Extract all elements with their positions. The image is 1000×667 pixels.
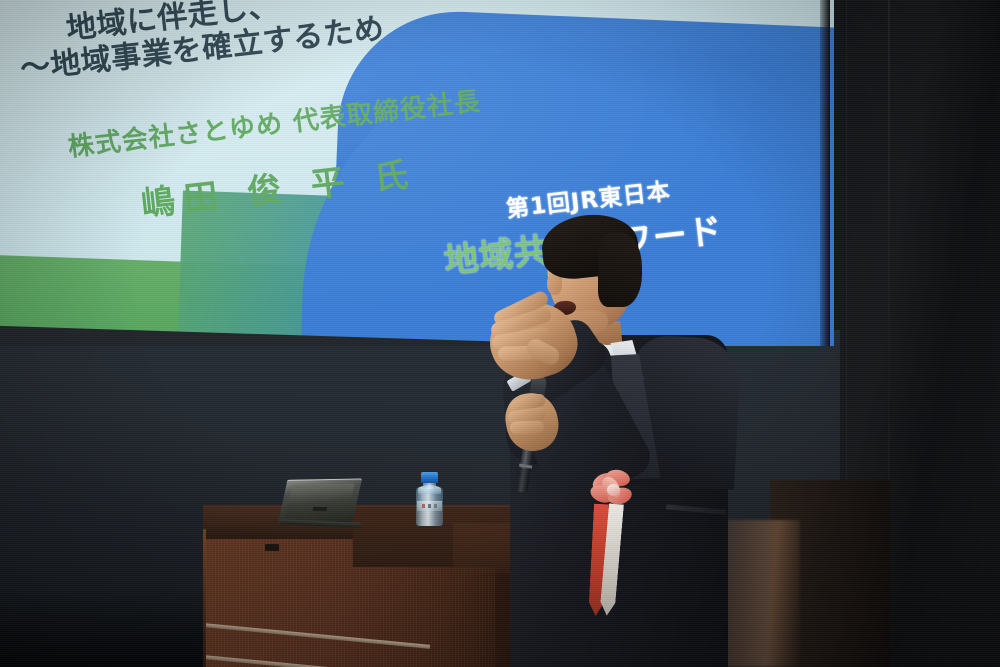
water-bottle-icon <box>412 472 446 526</box>
rosette-flower <box>590 470 634 510</box>
rosette-center <box>607 484 620 496</box>
speaker-person <box>470 215 760 667</box>
wall-seam-secondary <box>846 0 847 520</box>
photo-canvas: 地域に伴走し、 〜地域事業を確立するため 株式会社さとゆめ 代表取締役社長 嶋田… <box>0 0 1000 667</box>
podium-name-plate <box>265 544 279 551</box>
bottle-label <box>417 501 442 511</box>
ribbon-rosette-icon <box>582 470 652 620</box>
laptop-screen <box>285 484 355 519</box>
microphone-base <box>516 468 531 493</box>
speaker-mic-finger-3 <box>510 420 544 434</box>
speaker-hair-side <box>598 233 642 307</box>
bottle-cap <box>421 472 438 483</box>
screen-right-edge <box>820 0 830 346</box>
podium-left-edge <box>203 529 206 667</box>
laptop-logo <box>312 507 327 511</box>
bottle-neck <box>423 482 436 489</box>
laptop-icon <box>277 476 364 527</box>
